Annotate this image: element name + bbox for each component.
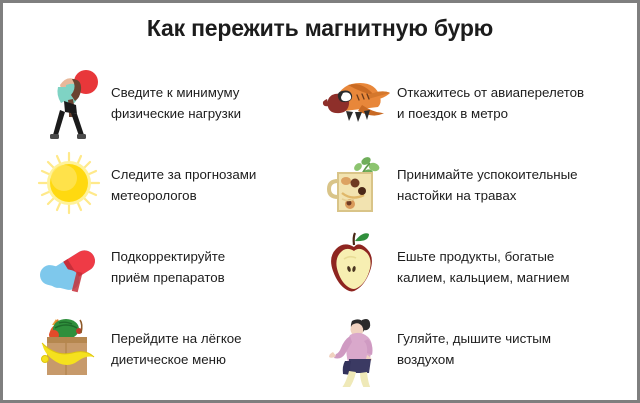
tip-line-2: настойки на травах [397, 185, 629, 206]
sun-icon [36, 147, 108, 223]
tip-line-1: Гуляйте, дышите чистым [397, 331, 551, 346]
airplane-icon [322, 65, 394, 141]
tip-text: Гуляйте, дышите чистым воздухом [397, 328, 629, 370]
tip-line-2: приём препаратов [111, 267, 336, 288]
list-item: Подкорректируйте приём препаратов [36, 229, 336, 311]
tip-line-2: калием, кальцием, магнием [397, 267, 629, 288]
tip-text: Откажитесь от авиаперелетов и поездок в … [397, 82, 629, 124]
tip-line-2: воздухом [397, 349, 629, 370]
tip-text: Ешьте продукты, богатые калием, кальцием… [397, 246, 629, 288]
list-item: Перейдите на лёгкое диетическое меню [36, 311, 336, 393]
tip-line-1: Ешьте продукты, богатые [397, 249, 554, 264]
grocery-bag-with-measuring-tape-icon [36, 311, 108, 387]
list-item: Следите за прогнозами метеорологов [36, 147, 336, 229]
tip-text: Принимайте успокоительные настойки на тр… [397, 164, 629, 206]
tip-text: Следите за прогнозами метеорологов [111, 164, 336, 206]
tip-line-2: метеорологов [111, 185, 336, 206]
tip-line-1: Следите за прогнозами [111, 167, 256, 182]
woman-exercising-with-ball-icon [36, 65, 108, 141]
tip-text: Подкорректируйте приём препаратов [111, 246, 336, 288]
herbal-tea-mug-icon [322, 147, 394, 223]
list-item: Сведите к минимуму физические нагрузки [36, 65, 336, 147]
list-item: Принимайте успокоительные настойки на тр… [322, 147, 622, 229]
tip-line-2: физические нагрузки [111, 103, 336, 124]
tip-line-1: Подкорректируйте [111, 249, 225, 264]
tip-text: Сведите к минимуму физические нагрузки [111, 82, 336, 124]
pills-capsules-icon [36, 229, 108, 305]
infographic-poster: Как пережить магнитную бурю [3, 3, 637, 400]
tips-column-right: Откажитесь от авиаперелетов и поездок в … [322, 65, 622, 393]
tips-column-left: Сведите к минимуму физические нагрузки [36, 65, 336, 393]
list-item: Ешьте продукты, богатые калием, кальцием… [322, 229, 622, 311]
walking-person-icon [322, 311, 394, 387]
tip-line-1: Перейдите на лёгкое [111, 331, 242, 346]
list-item: Откажитесь от авиаперелетов и поездок в … [322, 65, 622, 147]
tip-text: Перейдите на лёгкое диетическое меню [111, 328, 336, 370]
tip-line-1: Сведите к минимуму [111, 85, 239, 100]
apple-icon [322, 229, 394, 305]
tip-line-2: и поездок в метро [397, 103, 629, 124]
tip-line-1: Принимайте успокоительные [397, 167, 578, 182]
page-title: Как пережить магнитную бурю [3, 15, 637, 42]
tip-line-2: диетическое меню [111, 349, 336, 370]
tip-line-1: Откажитесь от авиаперелетов [397, 85, 584, 100]
list-item: Гуляйте, дышите чистым воздухом [322, 311, 622, 393]
